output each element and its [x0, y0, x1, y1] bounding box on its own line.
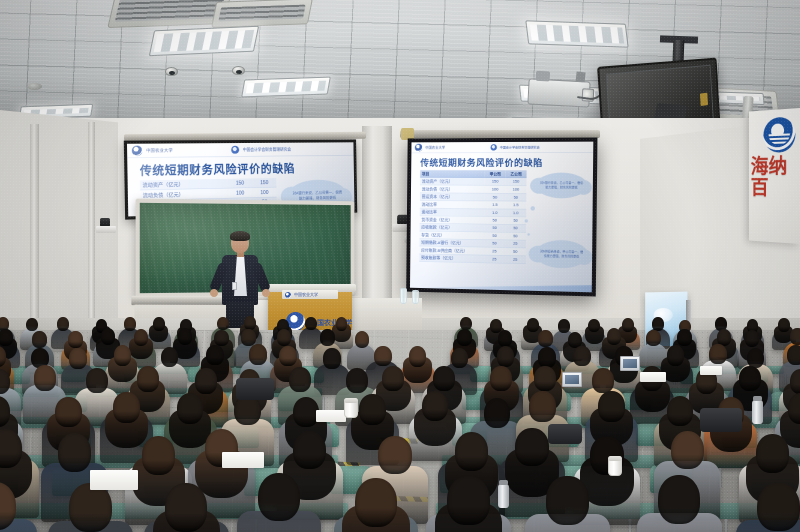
audience-member-head	[592, 368, 614, 393]
cell-company-a: 100	[228, 188, 253, 198]
audience-member-head	[529, 391, 556, 422]
slide-callout-top: 对A银行来说，乙公司第一，偿债能力更强，财务风险更低	[536, 173, 588, 199]
audience-member	[334, 478, 418, 532]
audience-member-head	[320, 329, 335, 346]
audience-member-head	[0, 329, 13, 346]
audience-member-head	[355, 478, 397, 527]
audience-member-head	[323, 348, 341, 368]
notebook-paper	[222, 452, 264, 468]
audience-member-head	[658, 475, 700, 524]
wall-camera-icon	[96, 218, 116, 234]
audience-member-head	[497, 346, 515, 366]
cell-company-b: 150	[252, 178, 276, 188]
banner-text: 海纳百	[751, 156, 791, 200]
audience-member-head	[206, 345, 224, 365]
notebook-paper	[316, 410, 346, 422]
side-table	[352, 298, 422, 334]
slide-table-row: 预收账款等（亿元）2525	[419, 254, 525, 264]
podium-nameplate: 中国农业大学	[282, 290, 338, 299]
audience-member-head	[546, 476, 588, 525]
water-bottle	[400, 288, 407, 304]
audience-member-head	[134, 329, 149, 346]
audience-member-head	[114, 345, 132, 365]
notebook-paper	[640, 372, 666, 382]
smoke-detector	[27, 83, 42, 90]
callout-bubble	[525, 219, 528, 222]
audience-member	[736, 483, 800, 532]
paper-cup	[344, 400, 358, 418]
audience-member	[48, 483, 132, 532]
audience-member-head	[534, 366, 556, 391]
cell-company-a: 150	[485, 178, 506, 186]
cell-company-b: 1.0	[505, 209, 526, 217]
slide-callout-bottom: 对B供应商来说，甲公司第一，偿债能力更强，财务风险更低	[535, 240, 588, 269]
slide-table: 项目 甲公司 乙公司 流动资产（亿元）150150流动负债（亿元）100100营…	[419, 170, 526, 264]
slide-logo-left-text: 中国农业大学	[146, 147, 173, 153]
audience-member-head	[455, 432, 488, 470]
audience-member-head	[217, 317, 229, 331]
laptop	[620, 356, 640, 371]
audience-member-head	[244, 316, 256, 330]
cell-company-b: 100	[505, 186, 526, 194]
audience-member-head	[0, 429, 22, 467]
audience-member-head	[382, 366, 404, 391]
cell-company-b: 150	[506, 178, 527, 186]
cell-company-a: 1.5	[485, 201, 506, 209]
audience-member-head	[573, 346, 591, 366]
slide-logo-right-text: 中国会计学会财务管理研究会	[500, 145, 540, 149]
audience-member-head	[178, 328, 193, 345]
audience-member	[0, 482, 37, 532]
audience-member-head	[69, 348, 87, 368]
audience-member-head	[177, 393, 204, 424]
audience-member-head	[646, 330, 661, 347]
university-logo-icon	[132, 145, 143, 155]
audience-member-head	[165, 483, 207, 532]
callout-bubble	[527, 233, 530, 236]
cell-company-a: 50	[485, 193, 506, 201]
audience-member-head	[57, 317, 69, 331]
audience-member-head	[195, 368, 217, 393]
audience-member-head	[788, 393, 800, 424]
audience-member-head	[142, 436, 175, 474]
wall-column	[30, 124, 39, 334]
presenter-badge	[232, 282, 237, 290]
notebook-paper	[90, 470, 138, 490]
right-projection-screen: 中国农业大学 中国会计学会财务管理研究会 传统短期财务风险评价的缺陷 项目 甲公…	[406, 138, 597, 297]
audience-member-head	[378, 436, 411, 474]
audience-member	[144, 483, 228, 532]
slide-title: 传统短期财务风险评价的缺陷	[420, 156, 543, 169]
audience-member-head	[34, 365, 56, 390]
audience-member	[525, 476, 609, 532]
slide-logo-right-text: 中国会计学会财务管理研究会	[243, 147, 291, 153]
slide-header: 中国农业大学 中国会计学会财务管理研究会	[127, 142, 357, 158]
audience-member-head	[137, 366, 159, 391]
audience-member-head	[667, 345, 685, 365]
university-seal-icon	[763, 116, 795, 153]
wall-column	[88, 122, 95, 322]
audience-member-head	[69, 483, 111, 532]
university-logo-icon	[415, 144, 423, 152]
audience-member-head	[277, 329, 292, 346]
audience-member	[637, 475, 721, 532]
cell-item: 预收账款等（亿元）	[419, 254, 484, 263]
presenter-hand	[210, 289, 218, 297]
audience-member-head	[790, 328, 800, 345]
ceiling-dome-sensor	[232, 66, 245, 75]
audience-member-head	[249, 344, 267, 364]
audience-member-head	[667, 396, 694, 427]
audience-member-head	[101, 328, 116, 345]
cell-company-a: 150	[228, 178, 253, 188]
backpack	[548, 424, 582, 444]
audience-member-head	[677, 329, 692, 346]
audience-member-head	[457, 329, 472, 346]
cell-company-a: 1.0	[484, 209, 505, 217]
cell-company-a: 25	[484, 255, 505, 263]
slide-logo-left-text: 中国农业大学	[425, 145, 445, 150]
audience-member-head	[86, 368, 108, 393]
notebook-paper	[700, 366, 722, 375]
ac-vent	[211, 0, 313, 28]
thermos-bottle	[498, 484, 509, 508]
center-column	[362, 126, 392, 326]
ceiling-light	[149, 26, 259, 57]
ceiling-light	[525, 20, 628, 47]
audience-member-head	[279, 346, 297, 366]
slide-right: 中国农业大学 中国会计学会财务管理研究会 传统短期财务风险评价的缺陷 项目 甲公…	[410, 142, 598, 297]
presenter	[212, 232, 268, 327]
audience-member-head	[161, 347, 179, 367]
audience-member-head	[709, 344, 727, 364]
audience-member-head	[293, 431, 326, 469]
lecture-hall-photo: 海纳百 中国农业大学 中国会计学会财务管理研究会 传统短期财务风险评价的缺陷 流…	[0, 0, 800, 532]
audience-member-head	[484, 398, 511, 429]
cell-company-b: 25	[505, 255, 526, 263]
audience-member-head	[790, 369, 800, 394]
audience-member-head	[538, 330, 553, 347]
slide-title: 传统短期财务风险评价的缺陷	[140, 160, 296, 179]
audience-member-head	[490, 366, 512, 391]
audience-member-head	[498, 330, 513, 347]
audience-member-head	[258, 473, 300, 522]
paper-cup	[608, 458, 622, 476]
tv-label-sticker	[700, 93, 708, 106]
society-logo-icon	[491, 144, 498, 151]
thermos-bottle	[752, 400, 763, 424]
presenter-hair	[230, 231, 250, 241]
audience-member-head	[756, 434, 789, 472]
audience-member-head	[359, 394, 386, 425]
col-company-a: 甲公司	[485, 170, 506, 177]
audience-member-head	[409, 346, 427, 366]
audience-member-head	[68, 331, 83, 348]
backpack	[236, 378, 274, 400]
audience-member-head	[447, 476, 489, 525]
slide-header: 中国农业大学 中国会计学会财务管理研究会	[411, 142, 597, 153]
audience-member-head	[55, 397, 82, 428]
audience-member-head	[422, 391, 449, 422]
cell-company-b: 100	[252, 187, 276, 197]
audience-member-head	[289, 367, 311, 392]
wall-banner: 海纳百	[749, 108, 800, 244]
audience-member-head	[757, 483, 799, 532]
col-company-b: 乙公司	[506, 170, 527, 178]
audience-member-head	[745, 330, 760, 347]
audience-member-head	[538, 347, 556, 367]
audience-member	[237, 473, 321, 532]
audience-member-head	[113, 392, 140, 423]
callout-bubble	[531, 206, 535, 210]
audience-member-head	[58, 433, 91, 471]
audience-member-head	[433, 366, 455, 391]
audience-member-head	[515, 428, 548, 466]
society-logo-icon	[231, 146, 239, 154]
audience-member-head	[671, 431, 704, 469]
audience-member-head	[739, 366, 761, 391]
audience-member-head	[26, 318, 38, 332]
cell-company-b: 1.5	[505, 201, 526, 209]
audience-member-head	[607, 328, 622, 345]
water-bottle	[412, 290, 419, 304]
audience-member-head	[374, 346, 392, 366]
audience-member-head	[32, 331, 47, 348]
audience-member-head	[598, 391, 625, 422]
audience-member-head	[787, 345, 800, 365]
slide-table-body-right: 流动资产（亿元）150150流动负债（亿元）100100营运资本（亿元）5050…	[419, 178, 526, 264]
podium-plate-text: 中国农业大学	[294, 292, 318, 298]
ceiling-dome-sensor	[165, 67, 178, 76]
desk-leg	[724, 519, 728, 532]
presenter-hand	[262, 289, 270, 297]
cell-company-b: 50	[505, 193, 526, 201]
audience-member-head	[346, 368, 368, 393]
backpack	[700, 408, 742, 432]
laptop	[562, 372, 582, 387]
cell-company-a: 100	[485, 185, 506, 193]
ceiling-light	[241, 77, 331, 98]
podium-plate-logo-icon	[285, 292, 291, 298]
